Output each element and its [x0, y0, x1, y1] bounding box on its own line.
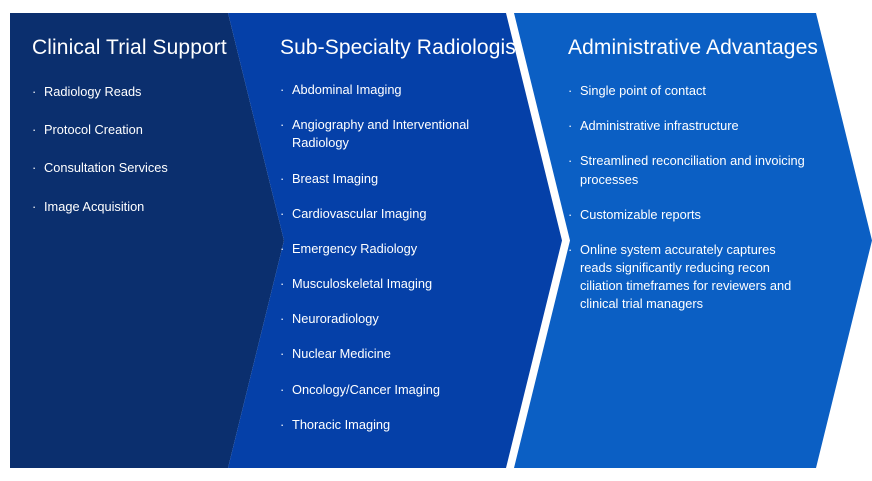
list-item: · Online system accurately captures read… — [568, 241, 808, 314]
bullet-dot-icon: · — [280, 310, 284, 328]
bullet-text: Image Acquisition — [44, 198, 250, 216]
list-item: · Cardiovascular Imaging — [280, 205, 512, 223]
bullet-dot-icon: · — [32, 121, 36, 139]
bullet-text: Breast Imaging — [292, 170, 512, 188]
bullet-dot-icon: · — [32, 198, 36, 216]
list-item: · Radiology Reads — [32, 83, 250, 101]
list-item: · Protocol Creation — [32, 121, 250, 139]
bullet-text: Emergency Radiology — [292, 240, 512, 258]
bullet-dot-icon: · — [280, 116, 284, 134]
bullet-text: Streamlined reconciliation and invoicing… — [580, 152, 808, 188]
list-item: · Customizable reports — [568, 206, 808, 224]
bullet-text: Single point of contact — [580, 82, 808, 100]
bullet-text: Consultation Services — [44, 159, 250, 177]
bullet-text: Administrative infrastructure — [580, 117, 808, 135]
bullet-dot-icon: · — [280, 240, 284, 258]
list-item: · Thoracic Imaging — [280, 416, 512, 434]
list-item: · Nuclear Medicine — [280, 345, 512, 363]
bullet-list-sub-specialty-radiologist: · Abdominal Imaging · Angiography and In… — [280, 81, 512, 434]
bullet-dot-icon: · — [568, 152, 572, 170]
bullet-text: Radiology Reads — [44, 83, 250, 101]
bullet-text: Abdominal Imaging — [292, 81, 512, 99]
bullet-text: Thoracic Imaging — [292, 416, 512, 434]
list-item: · Image Acquisition — [32, 198, 250, 216]
list-item: · Single point of contact — [568, 82, 808, 100]
panel-content-administrative-advantages: Administrative Advantages · Single point… — [508, 13, 808, 468]
bullet-list-clinical-trial-support: · Radiology Reads · Protocol Creation · … — [32, 83, 250, 216]
bullet-text: Oncology/Cancer Imaging — [292, 381, 512, 399]
bullet-text: Protocol Creation — [44, 121, 250, 139]
bullet-dot-icon: · — [32, 159, 36, 177]
list-item: · Abdominal Imaging — [280, 81, 512, 99]
list-item: · Oncology/Cancer Imaging — [280, 381, 512, 399]
bullet-dot-icon: · — [568, 241, 572, 259]
panel-title-administrative-advantages: Administrative Advantages — [568, 36, 808, 59]
list-item: · Administrative infrastructure — [568, 117, 808, 135]
bullet-dot-icon: · — [280, 416, 284, 434]
bullet-text: Customizable reports — [580, 206, 808, 224]
bullet-dot-icon: · — [568, 206, 572, 224]
list-item: · Streamlined reconciliation and invoici… — [568, 152, 808, 188]
list-item: · Neuroradiology — [280, 310, 512, 328]
bullet-text: Nuclear Medicine — [292, 345, 512, 363]
bullet-list-administrative-advantages: · Single point of contact · Administrati… — [568, 82, 808, 313]
bullet-dot-icon: · — [280, 170, 284, 188]
bullet-dot-icon: · — [280, 381, 284, 399]
list-item: · Emergency Radiology — [280, 240, 512, 258]
bullet-text: Online system accurately captures reads … — [580, 241, 808, 314]
bullet-dot-icon: · — [568, 82, 572, 100]
list-item: · Breast Imaging — [280, 170, 512, 188]
bullet-dot-icon: · — [280, 345, 284, 363]
bullet-dot-icon: · — [568, 117, 572, 135]
bullet-text: Angiography and Interventional Radiology — [292, 116, 512, 152]
bullet-text: Cardiovascular Imaging — [292, 205, 512, 223]
panel-content-clinical-trial-support: Clinical Trial Support · Radiology Reads… — [10, 13, 250, 468]
bullet-dot-icon: · — [280, 81, 284, 99]
panel-title-clinical-trial-support: Clinical Trial Support — [32, 36, 250, 59]
list-item: · Angiography and Interventional Radiolo… — [280, 116, 512, 152]
bullet-dot-icon: · — [280, 205, 284, 223]
list-item: · Musculoskeletal Imaging — [280, 275, 512, 293]
chevron-process-graphic: Clinical Trial Support · Radiology Reads… — [0, 0, 872, 481]
panel-title-sub-specialty-radiologist: Sub-Specialty Radiologist — [280, 36, 512, 59]
panel-content-sub-specialty-radiologist: Sub-Specialty Radiologist · Abdominal Im… — [222, 13, 512, 468]
bullet-dot-icon: · — [280, 275, 284, 293]
bullet-text: Musculoskeletal Imaging — [292, 275, 512, 293]
bullet-text: Neuroradiology — [292, 310, 512, 328]
list-item: · Consultation Services — [32, 159, 250, 177]
panel-administrative-advantages: Administrative Advantages · Single point… — [508, 13, 872, 468]
bullet-dot-icon: · — [32, 83, 36, 101]
